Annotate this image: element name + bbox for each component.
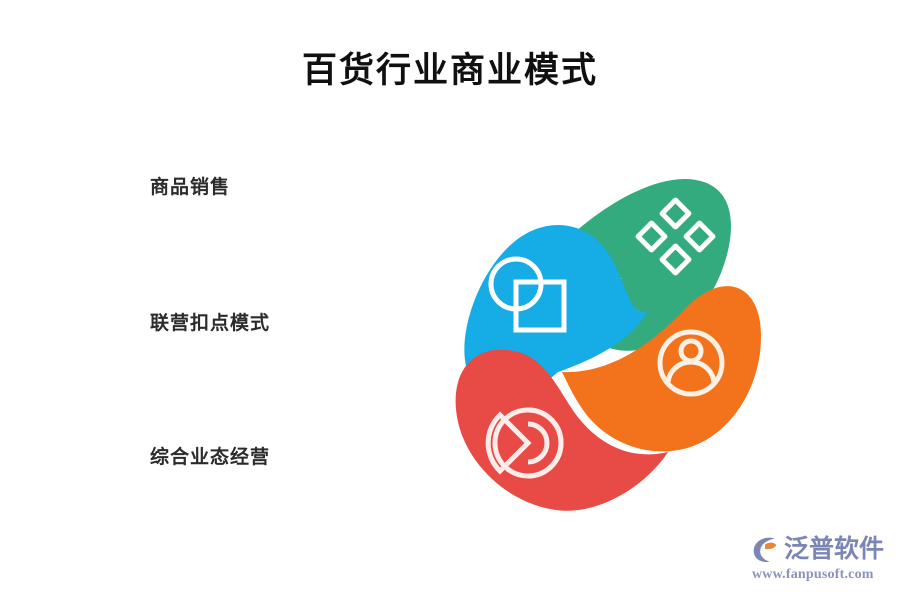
- label-item-2: 联营扣点模式: [150, 308, 270, 335]
- page-title: 百货行业商业模式: [0, 42, 900, 93]
- watermark-logo: 泛普软件 www.fanpusoft.com: [750, 530, 886, 588]
- label-item-3: 综合业态经营: [150, 442, 270, 469]
- slide-canvas: 百货行业商业模式 商品销售 联营扣点模式 综合业态经营: [0, 0, 900, 600]
- logo-url: www.fanpusoft.com: [752, 567, 874, 583]
- fanpu-logo-mark: [750, 534, 780, 564]
- label-item-1: 商品销售: [150, 172, 230, 199]
- logo-name: 泛普软件: [784, 534, 884, 564]
- label-column: 商品销售 联营扣点模式 综合业态经营: [150, 160, 440, 490]
- petal-diagram: [432, 160, 792, 520]
- logo-row: 泛普软件: [750, 534, 884, 564]
